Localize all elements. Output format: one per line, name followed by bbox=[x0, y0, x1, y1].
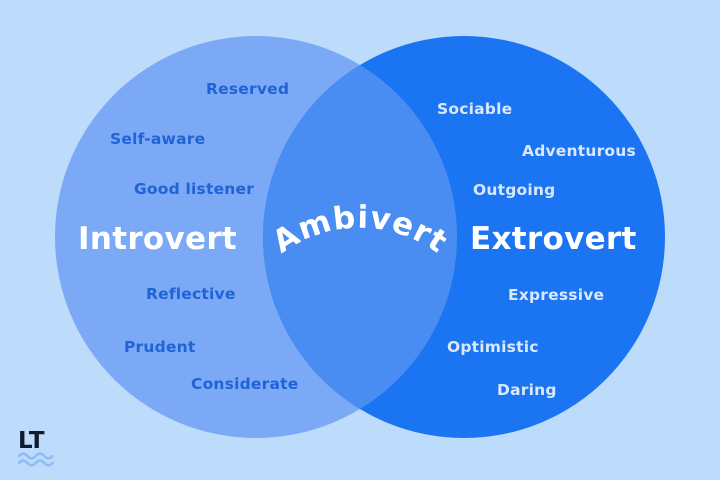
venn-diagram-canvas: Ambivert Introvert Extrovert Reserved Se… bbox=[0, 0, 720, 480]
trait-expressive: Expressive bbox=[508, 286, 604, 304]
right-circle-title: Extrovert bbox=[470, 221, 637, 257]
logo-text: LT bbox=[18, 428, 45, 454]
trait-outgoing: Outgoing bbox=[473, 181, 555, 199]
trait-sociable: Sociable bbox=[437, 100, 512, 118]
left-circle-title: Introvert bbox=[78, 221, 237, 257]
trait-prudent: Prudent bbox=[124, 338, 196, 356]
trait-adventurous: Adventurous bbox=[522, 142, 636, 160]
trait-reserved: Reserved bbox=[206, 80, 289, 98]
wave-icon bbox=[19, 454, 53, 466]
trait-considerate: Considerate bbox=[191, 375, 298, 393]
trait-self-aware: Self-aware bbox=[110, 130, 205, 148]
trait-good-listener: Good listener bbox=[134, 180, 254, 198]
trait-reflective: Reflective bbox=[146, 285, 236, 303]
lt-watermark-logo: LT bbox=[18, 424, 74, 468]
trait-optimistic: Optimistic bbox=[447, 338, 539, 356]
trait-daring: Daring bbox=[497, 381, 557, 399]
